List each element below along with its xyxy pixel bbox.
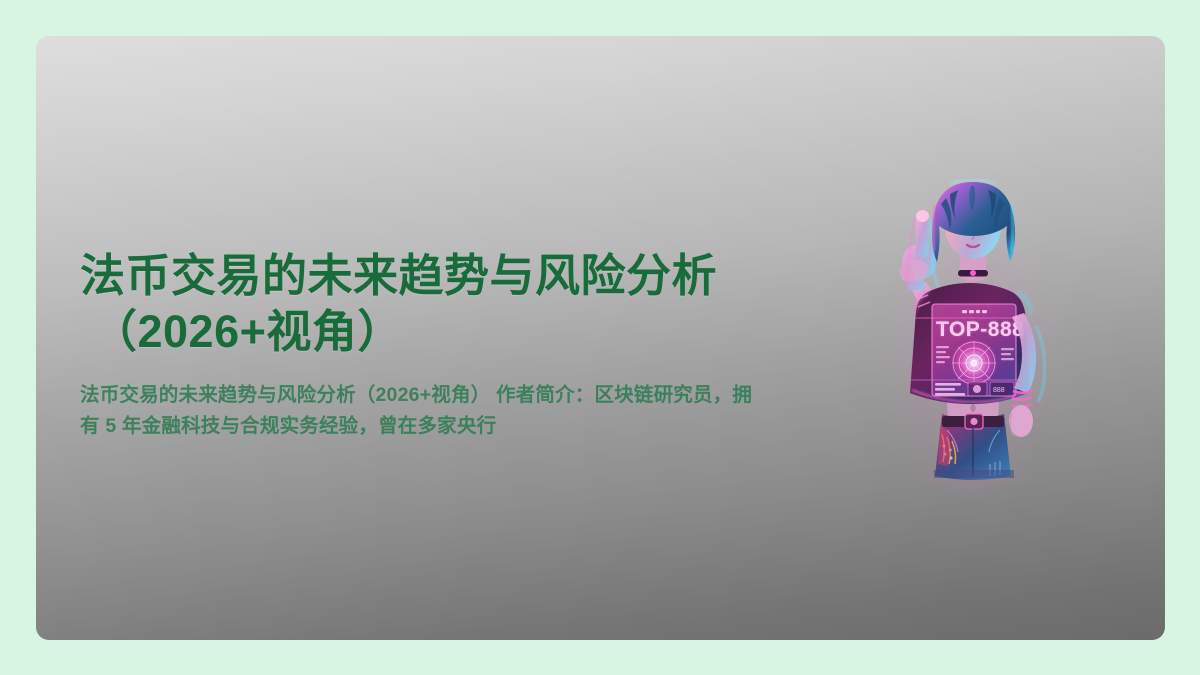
slide-root: TOP-888 TOP-888	[0, 0, 1200, 675]
title-block: 法币交易的未来趋势与风险分析 （2026+视角） 法币交易的未来趋势与风险分析（…	[80, 248, 780, 443]
title-line-1: 法币交易的未来趋势与风险分析	[80, 250, 717, 301]
shirt-text-glow: TOP-888	[936, 318, 1024, 341]
page-title: 法币交易的未来趋势与风险分析 （2026+视角）	[80, 248, 780, 360]
title-line-2: （2026+视角）	[80, 304, 780, 360]
cyberpunk-character-image: TOP-888 TOP-888	[872, 158, 1078, 508]
svg-text:888: 888	[993, 387, 1005, 394]
subtitle-text: 法币交易的未来趋势与风险分析（2026+视角） 作者简介：区块链研究员，拥有 5…	[80, 380, 770, 443]
